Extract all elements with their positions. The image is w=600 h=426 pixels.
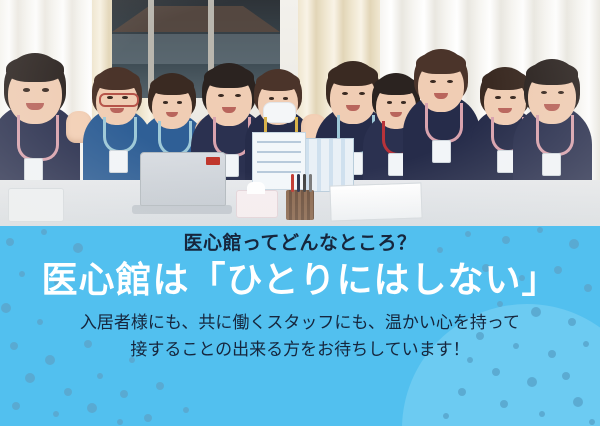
staff-fringe — [6, 56, 64, 82]
staff-fringe — [328, 64, 378, 86]
pen-cup — [286, 190, 314, 220]
photo-scene — [0, 0, 600, 226]
staff-lanyard — [17, 115, 60, 161]
staff-eye — [23, 88, 30, 92]
clipboard-line — [257, 141, 301, 143]
clipboard-line — [257, 151, 301, 153]
staff-eye — [42, 88, 49, 92]
recruitment-banner: 医心館ってどんなところ？ 医心館は「ひとりにはしない」 入居者様にも、共に働くス… — [0, 0, 600, 426]
laptop-base — [132, 205, 232, 214]
staff-photo — [0, 0, 600, 226]
staff-id-badge — [542, 153, 561, 176]
panel-eyebrow: 医心館ってどんなところ？ — [183, 232, 416, 256]
clipboard-line — [257, 171, 301, 173]
eyeglasses — [99, 93, 138, 107]
staff-eye — [177, 101, 182, 104]
staff-fringe — [526, 62, 578, 85]
staff-lanyard — [158, 121, 191, 156]
desk-tray — [8, 188, 64, 222]
staff-fringe — [204, 66, 254, 88]
tissue-sheet — [247, 182, 265, 194]
pen — [309, 174, 312, 192]
staff-lanyard — [103, 117, 138, 154]
staff-eye — [401, 101, 406, 104]
staff-eye — [510, 96, 515, 99]
pen — [291, 174, 294, 192]
documents-stack — [329, 182, 422, 221]
clipboard-line — [257, 161, 301, 163]
staff-lanyard — [536, 115, 575, 156]
panel-lead-line-1: 入居者様にも、共に働くスタッフにも、温かい心を持って — [80, 310, 520, 336]
window-roof-view — [112, 6, 280, 32]
staff-fringe — [150, 76, 194, 95]
panel-lead: 入居者様にも、共に働くスタッフにも、温かい心を持って 接することの出来る方をお待… — [80, 310, 520, 363]
staff-fringe — [374, 76, 418, 95]
laptop-sticker — [206, 157, 220, 165]
panel-headline: 医心館は「ひとりにはしない」 — [42, 260, 559, 302]
pen — [297, 174, 300, 192]
staff-eye — [387, 101, 392, 104]
staff-lanyard — [425, 103, 462, 143]
tissue-box — [236, 190, 278, 218]
laptop — [140, 152, 226, 206]
staff-eye — [163, 101, 168, 104]
staff-eye — [283, 97, 288, 100]
staff-fringe — [94, 70, 140, 90]
window-sky-view — [112, 34, 280, 64]
staff-fringe — [256, 72, 300, 91]
staff-id-badge — [109, 150, 128, 173]
staff-id-badge — [432, 140, 451, 163]
panel-lead-line-2: 接することの出来る方をお待ちしています！ — [80, 337, 520, 363]
message-content: 医心館ってどんなところ？ 医心館は「ひとりにはしない」 入居者様にも、共に働くス… — [0, 226, 600, 426]
message-panel: 医心館ってどんなところ？ 医心館は「ひとりにはしない」 入居者様にも、共に働くス… — [0, 226, 600, 426]
staff-eye — [495, 96, 500, 99]
pen — [303, 174, 306, 192]
staff-fringe — [482, 70, 528, 90]
staff-fringe — [416, 52, 466, 74]
staff-id-badge — [24, 158, 43, 181]
staff-eye — [269, 97, 274, 100]
